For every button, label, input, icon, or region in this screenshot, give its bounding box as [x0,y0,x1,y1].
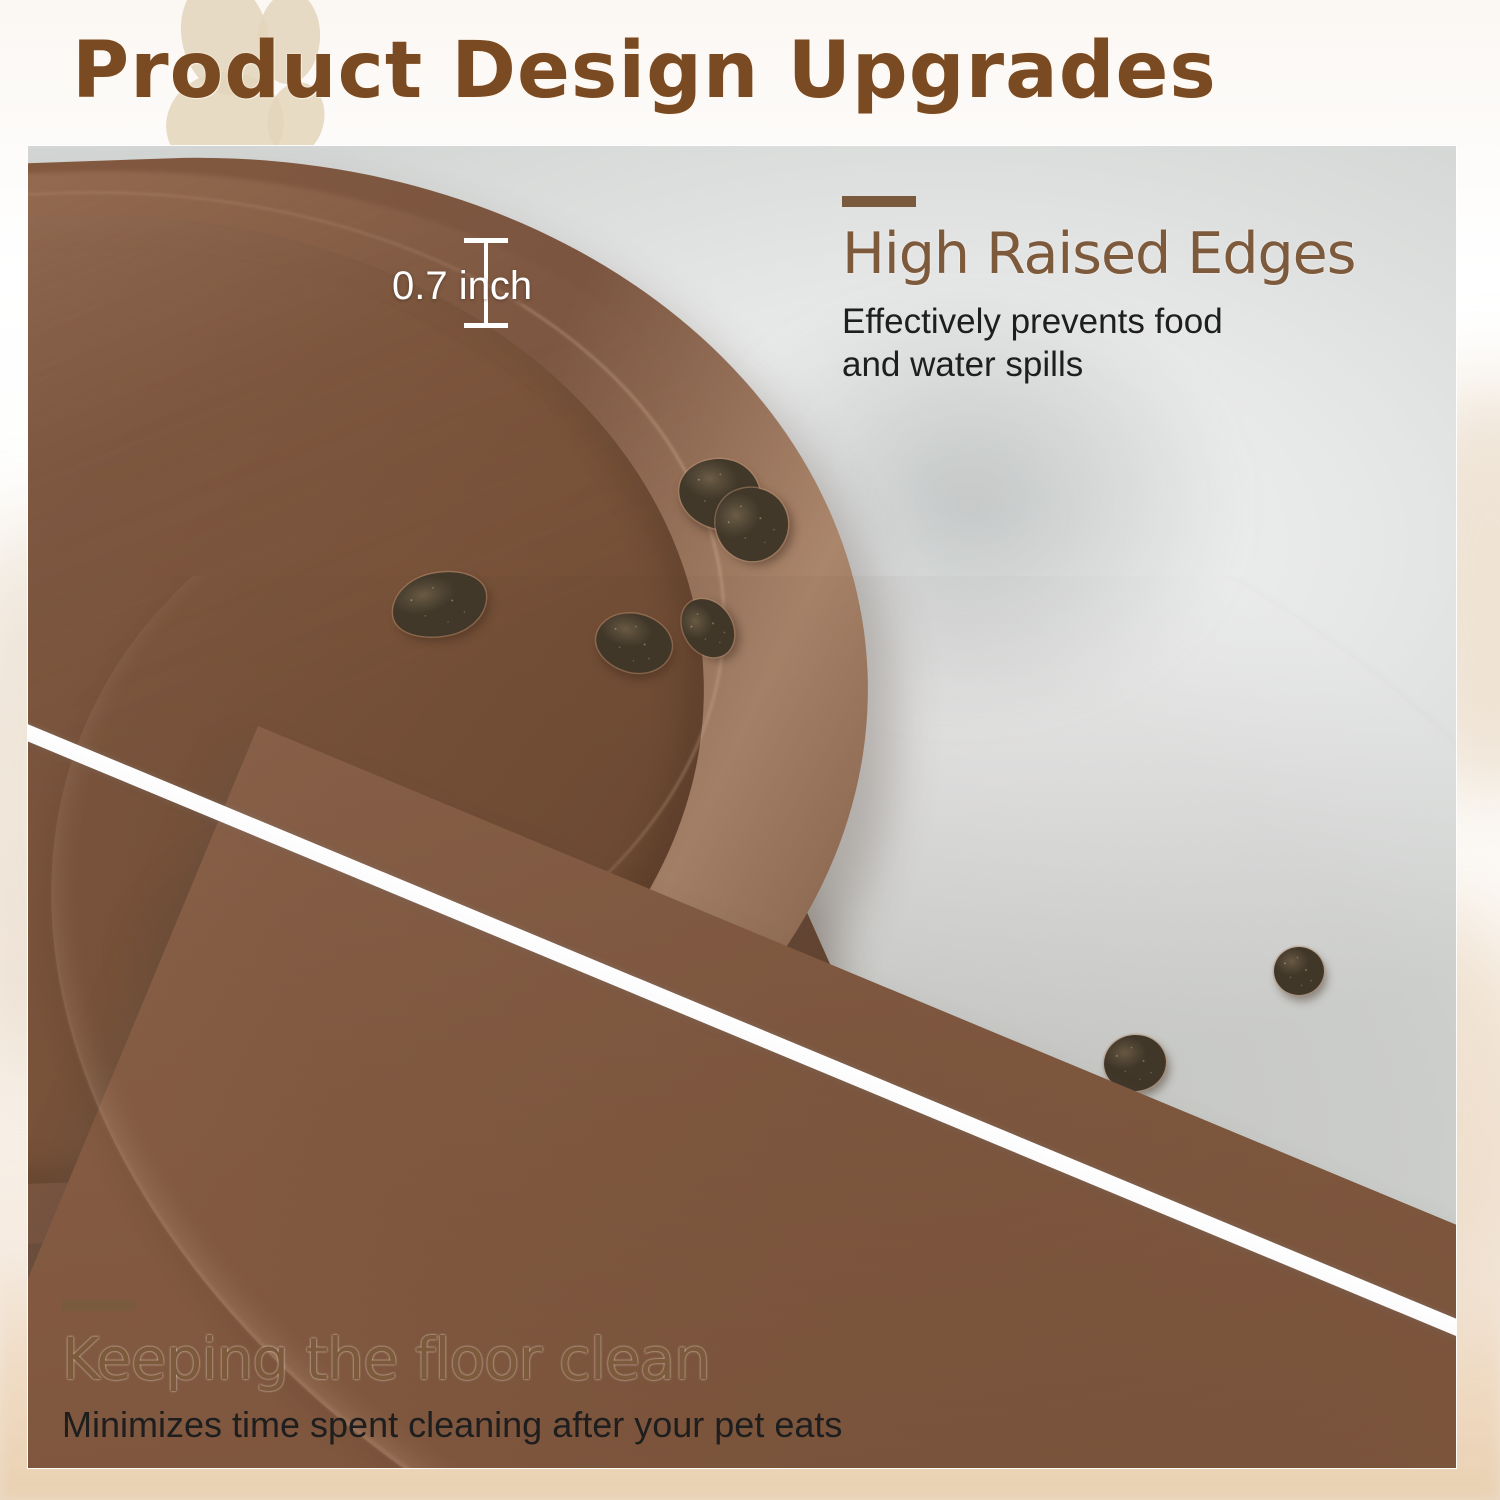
page-title: Product Design Upgrades [72,26,1472,116]
dimension-callout: 0.7 inch [484,238,488,330]
product-infographic-page: Product Design Upgrades smilool [0,0,1500,1500]
callout-heading: Keeping the floor clean [62,1325,842,1393]
callout-high-raised-edges: High Raised Edges Effectively prevents f… [842,196,1355,386]
callout-body: Minimizes time spent cleaning after your… [62,1403,842,1447]
callout-body: Effectively prevents food and water spil… [842,301,1355,386]
dimension-cap-top-icon [464,238,508,243]
callout-body-line: Minimizes time spent cleaning after your… [62,1403,842,1447]
callout-body-line: and water spills [842,344,1355,387]
callout-heading: High Raised Edges [842,221,1355,287]
dimension-cap-bottom-icon [464,323,508,328]
dimension-label: 0.7 inch [392,264,532,309]
callout-body-line: Effectively prevents food [842,301,1355,344]
accent-bar [842,196,916,207]
header: Product Design Upgrades [0,0,1500,146]
accent-bar [62,1300,136,1311]
callout-keeping-the-floor-clean: Keeping the floor clean Minimizes time s… [62,1300,842,1447]
